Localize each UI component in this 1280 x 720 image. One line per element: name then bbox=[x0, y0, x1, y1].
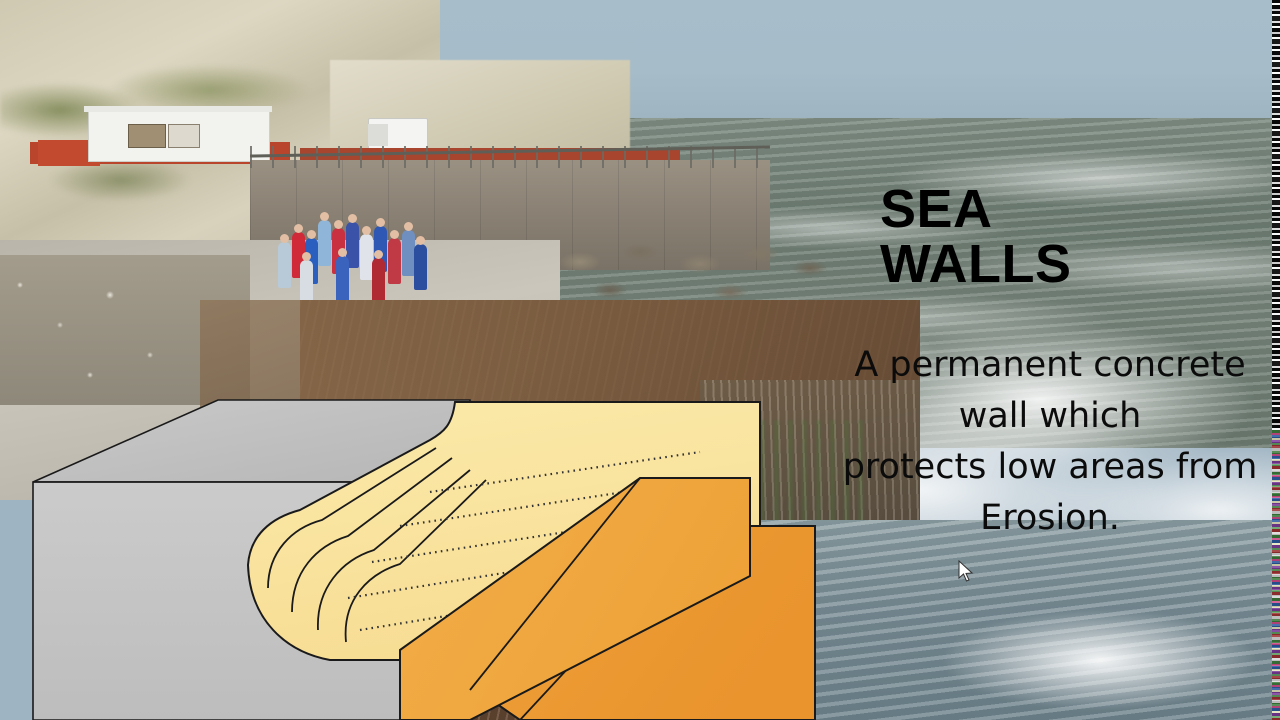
hut-window-2 bbox=[168, 124, 200, 148]
person-head bbox=[302, 252, 311, 261]
slide-canvas: SEA WALLS A permanent concrete wall whic… bbox=[0, 0, 1280, 720]
person-head bbox=[416, 236, 425, 245]
person-walking bbox=[372, 258, 385, 304]
person-walking bbox=[388, 238, 401, 284]
person-walking bbox=[336, 256, 349, 302]
mouse-pointer-icon bbox=[958, 560, 974, 584]
slide-title: SEA WALLS bbox=[880, 182, 1180, 292]
person-head bbox=[280, 234, 289, 243]
body-line-3: protects low areas from bbox=[830, 442, 1270, 493]
body-line-4: Erosion. bbox=[830, 493, 1270, 544]
person-head bbox=[320, 212, 329, 221]
lorry-cab bbox=[368, 124, 388, 146]
person-walking bbox=[318, 220, 331, 266]
foam-lower-right bbox=[900, 600, 1280, 720]
person-head bbox=[374, 250, 383, 259]
person-head bbox=[338, 248, 347, 257]
person-head bbox=[307, 230, 316, 239]
person-head bbox=[294, 224, 303, 233]
sea-wall-cross-section-diagram bbox=[0, 330, 840, 720]
person-head bbox=[404, 222, 413, 231]
body-line-1: A permanent concrete bbox=[830, 340, 1270, 391]
person-walking bbox=[278, 242, 291, 288]
hut-roof bbox=[84, 106, 272, 112]
title-line-2: WALLS bbox=[880, 237, 1180, 292]
person-head bbox=[376, 218, 385, 227]
body-line-2: wall which bbox=[830, 391, 1270, 442]
video-artifact-strip-2 bbox=[1272, 430, 1280, 720]
person-head bbox=[390, 230, 399, 239]
slide-body-text: A permanent concrete wall which protects… bbox=[830, 340, 1270, 544]
person-walking bbox=[414, 244, 427, 290]
person-head bbox=[334, 220, 343, 229]
title-line-1: SEA bbox=[880, 179, 993, 239]
person-head bbox=[348, 214, 357, 223]
person-head bbox=[362, 226, 371, 235]
hut-window bbox=[128, 124, 166, 148]
